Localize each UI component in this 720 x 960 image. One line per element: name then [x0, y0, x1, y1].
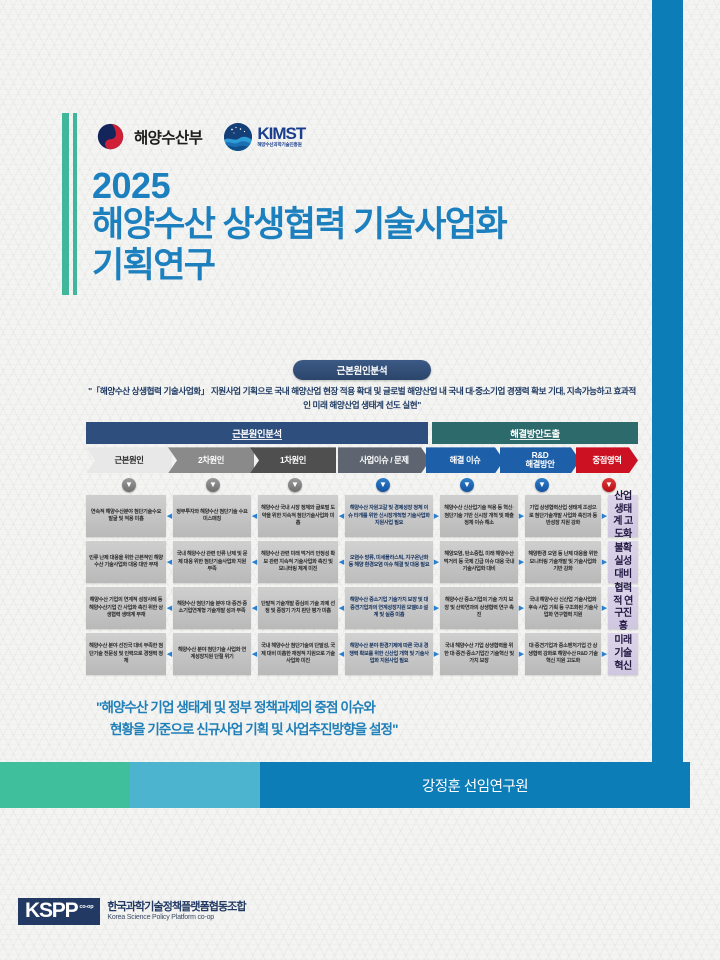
column-header-focus-area[interactable]: 중점영역	[576, 447, 638, 473]
cell-secondary-cause[interactable]: 해양수산 분야 첨단기술 사업화 연계성장지원 단절 위기	[173, 633, 251, 675]
arrow-left-icon: ◀	[251, 587, 258, 629]
cell-rnd-solution[interactable]: 국내 해양수산 신산업 기술사업화 후속 사업 기획 등 구조화된 기술사업화 …	[525, 587, 601, 629]
cell-focus-area[interactable]: 미래기술혁신	[608, 633, 638, 675]
cell-business-issue[interactable]: 오염수 방류, 미세플라스틱, 지구온난화 등 해양 환경오염 이슈 해결 및 …	[345, 541, 433, 583]
title-year: 2025	[92, 167, 652, 205]
chevron-down-icon-secondary-cause: ▼	[206, 478, 220, 492]
kimst-wordmark: KIMST 해양수산과학기술진흥원	[257, 125, 305, 148]
diagram-column-headers: 근본원인 2차원인 1차원인 사업이슈 / 문제 해결 이슈 R&D 해결방안 …	[86, 447, 638, 473]
cell-primary-cause[interactable]: 해양수산 관련 미래 먹거리 안정성 확보 관련 지속적 기술사업화 촉진 및 …	[258, 541, 338, 583]
cell-primary-cause[interactable]: 단발적 기술개발 중심의 기술 과제 선정 및 중장기 가치 판단 평가 미흡	[258, 587, 338, 629]
diagram-grid: 연속적 해양수산분야 첨단기술수요 발굴 및 적용 미흡 ◀ 정부투자와 해양수…	[86, 495, 638, 675]
kimst-emblem-icon	[224, 123, 252, 151]
taeguk-emblem-icon	[96, 122, 125, 151]
ministry-logo: 해양수산부	[96, 122, 202, 151]
arrow-left-icon: ◀	[338, 587, 345, 629]
title-rule-thick	[62, 113, 69, 295]
diagram-row: 인류 난제 대응을 위한 근본적인 해양수산 기술사업화 대응 대안 부재 ◀ …	[86, 541, 638, 583]
column-header-rnd-solution[interactable]: R&D 해결방안	[500, 447, 580, 473]
kspp-logomark: KSPP co-op	[18, 898, 100, 925]
diagram-row: 연속적 해양수산분야 첨단기술수요 발굴 및 적용 미흡 ◀ 정부투자와 해양수…	[86, 495, 638, 537]
column-header-primary-cause[interactable]: 1차원인	[250, 447, 336, 473]
kspp-coop-label: co-op	[79, 904, 93, 910]
arrow-right-icon: ▶	[433, 495, 440, 537]
title-rule-thin	[73, 113, 77, 295]
arrow-left-icon: ◀	[338, 633, 345, 675]
cell-rnd-solution[interactable]: 해양환경 오염 등 난제 대응을 위한 모니터링 기술개발 및 기술사업화 기반…	[525, 541, 601, 583]
kspp-logo: KSPP co-op 한국과학기술정책플랫폼협동조합 Korea Science…	[18, 898, 246, 925]
band-header-solution-label: 해결방안도출	[510, 429, 560, 441]
cell-focus-area[interactable]: 불확실성 대비	[608, 541, 638, 583]
presenter-name: 강정훈 선임연구원	[260, 762, 690, 808]
closing-quote-line-1: "해양수산 기업 생태계 및 정부 정책과제의 중점 이슈와	[96, 700, 375, 715]
cell-root-cause[interactable]: 연속적 해양수산분야 첨단기술수요 발굴 및 적용 미흡	[86, 495, 166, 537]
arrow-left-icon: ◀	[166, 587, 173, 629]
chevron-down-icon-focus-area: ▼	[602, 478, 616, 492]
arrow-right-icon: ▶	[601, 541, 608, 583]
arrow-right-icon: ▶	[601, 587, 608, 629]
cell-solution-issue[interactable]: 해양오염, 탄소중립, 미래 해양수산 먹거리 등 국제 긴급 이슈 대응 국내…	[440, 541, 518, 583]
closing-quote-line-2: 현황을 기준으로 신규사업 기획 및 사업추진방향을 설정"	[96, 719, 636, 741]
arrow-right-icon: ▶	[518, 633, 525, 675]
title-block: 2025 해양수산 상생협력 기술사업화 기획연구	[92, 167, 652, 286]
arrow-right-icon: ▶	[433, 541, 440, 583]
cell-primary-cause[interactable]: 해양수산 국내 시장 정체와 글로벌 도약을 위한 지속적 첨단기술사업화 미흡	[258, 495, 338, 537]
cell-business-issue[interactable]: 해양수산 분야 환경기제에 따른 국내 경쟁력 확보를 위한 신산업 개혁 및 …	[345, 633, 433, 675]
column-header-business-issue[interactable]: 사업이슈 / 문제	[338, 447, 430, 473]
arrow-right-icon: ▶	[601, 495, 608, 537]
arrow-left-icon: ◀	[338, 495, 345, 537]
kimst-name: KIMST	[257, 125, 305, 142]
chevron-down-icon-rnd-solution: ▼	[535, 478, 549, 492]
footer-band-cyan	[130, 762, 260, 808]
cell-secondary-cause[interactable]: 국내 해양수산 관련 인류 난제 및 문제 대응 위한 첨단기술사업화 지원 부…	[173, 541, 251, 583]
diagram-row: 해양수산 기업의 연계적 성장사례 등 해양수산기업 간 사업화 촉진 위한 상…	[86, 587, 638, 629]
cell-business-issue[interactable]: 해양수산 자원고갈 및 경제성장 정체 이슈 타개를 위한 신시장개척형 기술사…	[345, 495, 433, 537]
kspp-name-block: 한국과학기술정책플랫폼협동조합 Korea Science Policy Pla…	[107, 901, 245, 922]
slide-root: 해양수산부 KIMST 해양수산과학기술진흥원	[0, 0, 720, 960]
diagram-pill-wrap: 근본원인분석	[86, 360, 638, 380]
cell-primary-cause[interactable]: 국내 해양수산 첨단기술의 단발성, 국제 대비 미흡한 재정적 지원으로 기술…	[258, 633, 338, 675]
arrow-left-icon: ◀	[166, 495, 173, 537]
cell-solution-issue[interactable]: 해양수산 신산업기술 적용 등 혁신·첨단기술 기반 신시장 개척 및 매출 정…	[440, 495, 518, 537]
cell-rnd-solution[interactable]: 기업 상생협력산업 생태계 조성으로 첨단기술개발 사업화 촉진과 동반성장 지…	[525, 495, 601, 537]
arrow-right-icon: ▶	[601, 633, 608, 675]
arrow-left-icon: ◀	[338, 541, 345, 583]
arrow-right-icon: ▶	[518, 495, 525, 537]
kspp-name-en: Korea Science Policy Platform co-op	[107, 914, 245, 922]
chevron-down-icon-root-cause: ▼	[122, 478, 136, 492]
band-header-analysis: 근본원인분석	[86, 422, 428, 445]
arrow-left-icon: ◀	[166, 633, 173, 675]
band-header-solution: 해결방안도출	[432, 422, 638, 445]
title-line-2: 기획연구	[92, 246, 652, 287]
chevron-down-icon-primary-cause: ▼	[288, 478, 302, 492]
diagram-column-markers: ▼ ▼ ▼ ▼ ▼ ▼ ▼	[86, 477, 638, 492]
cell-rnd-solution[interactable]: 대·중견기업과 중소벤처기업 간 상생협력 강화로 해양수산 R&D 기술혁신 …	[525, 633, 601, 675]
diagram-objective-statement: "「해양수산 상생협력 기술사업화」 지원사업 기획으로 국내 해양산업 현장 …	[86, 385, 638, 413]
column-header-secondary-cause[interactable]: 2차원인	[168, 447, 254, 473]
diagram-row: 해양수산 분야 선진국 대비 부족한 첨단기술 전문성 및 인력으로 경쟁력 정…	[86, 633, 638, 675]
cell-solution-issue[interactable]: 국내 해양수산 기업 상생협력을 위한 대·중견·중소기업간 기술혁신 및 가치…	[440, 633, 518, 675]
arrow-right-icon: ▶	[518, 541, 525, 583]
footer-band-green	[0, 762, 130, 808]
cell-root-cause[interactable]: 해양수산 기업의 연계적 성장사례 등 해양수산기업 간 사업화 촉진 위한 상…	[86, 587, 166, 629]
arrow-left-icon: ◀	[251, 633, 258, 675]
title-accent-rules	[62, 113, 77, 295]
cell-secondary-cause[interactable]: 정부투자와 해양수산 첨단기술 수요 미스매칭	[173, 495, 251, 537]
closing-quote: "해양수산 기업 생태계 및 정부 정책과제의 중점 이슈와 현황을 기준으로 …	[96, 697, 636, 741]
arrow-left-icon: ◀	[166, 541, 173, 583]
arrow-right-icon: ▶	[433, 633, 440, 675]
arrow-left-icon: ◀	[251, 541, 258, 583]
cell-secondary-cause[interactable]: 해양수산 첨단기술 분야 대·중견·중소기업연계형 기술개발 성과 부족	[173, 587, 251, 629]
column-header-solution-issue[interactable]: 해결 이슈	[426, 447, 504, 473]
kimst-logo: KIMST 해양수산과학기술진흥원	[224, 123, 305, 151]
ministry-name: 해양수산부	[134, 126, 202, 148]
right-accent-bar	[652, 0, 683, 762]
kspp-name-ko: 한국과학기술정책플랫폼협동조합	[107, 901, 245, 914]
chevron-down-icon-solution-issue: ▼	[460, 478, 474, 492]
chevron-down-icon-business-issue: ▼	[376, 478, 390, 492]
logo-row: 해양수산부 KIMST 해양수산과학기술진흥원	[96, 122, 305, 151]
title-line-1: 해양수산 상생협력 기술사업화	[92, 205, 652, 246]
cell-business-issue[interactable]: 해양수산 중소기업 기술가치 보장 및 대중견기업과의 연계성장지원 모델0.0…	[345, 587, 433, 629]
cell-focus-area[interactable]: 산업 생태계 고도화	[608, 495, 638, 537]
arrow-left-icon: ◀	[251, 495, 258, 537]
cell-focus-area[interactable]: 협력적 연구진흥	[608, 587, 638, 629]
diagram-band-headers: 근본원인분석 해결방안도출	[86, 422, 638, 445]
kimst-subname: 해양수산과학기술진흥원	[257, 143, 305, 148]
cell-root-cause[interactable]: 해양수산 분야 선진국 대비 부족한 첨단기술 전문성 및 인력으로 경쟁력 정…	[86, 633, 166, 675]
cell-solution-issue[interactable]: 해양수산 중소기업의 기술 가치 보장 및 산학연과의 상생협력 연구 촉진	[440, 587, 518, 629]
cell-root-cause[interactable]: 인류 난제 대응을 위한 근본적인 해양수산 기술사업화 대응 대안 부재	[86, 541, 166, 583]
band-header-analysis-label: 근본원인분석	[232, 429, 282, 441]
kspp-wordmark: KSPP	[25, 901, 77, 921]
column-header-root-cause[interactable]: 근본원인	[86, 447, 172, 473]
arrow-right-icon: ▶	[433, 587, 440, 629]
root-cause-analysis-diagram: 근본원인분석 "「해양수산 상생협력 기술사업화」 지원사업 기획으로 국내 해…	[86, 360, 638, 675]
arrow-right-icon: ▶	[518, 587, 525, 629]
diagram-pill-label: 근본원인분석	[293, 360, 432, 380]
